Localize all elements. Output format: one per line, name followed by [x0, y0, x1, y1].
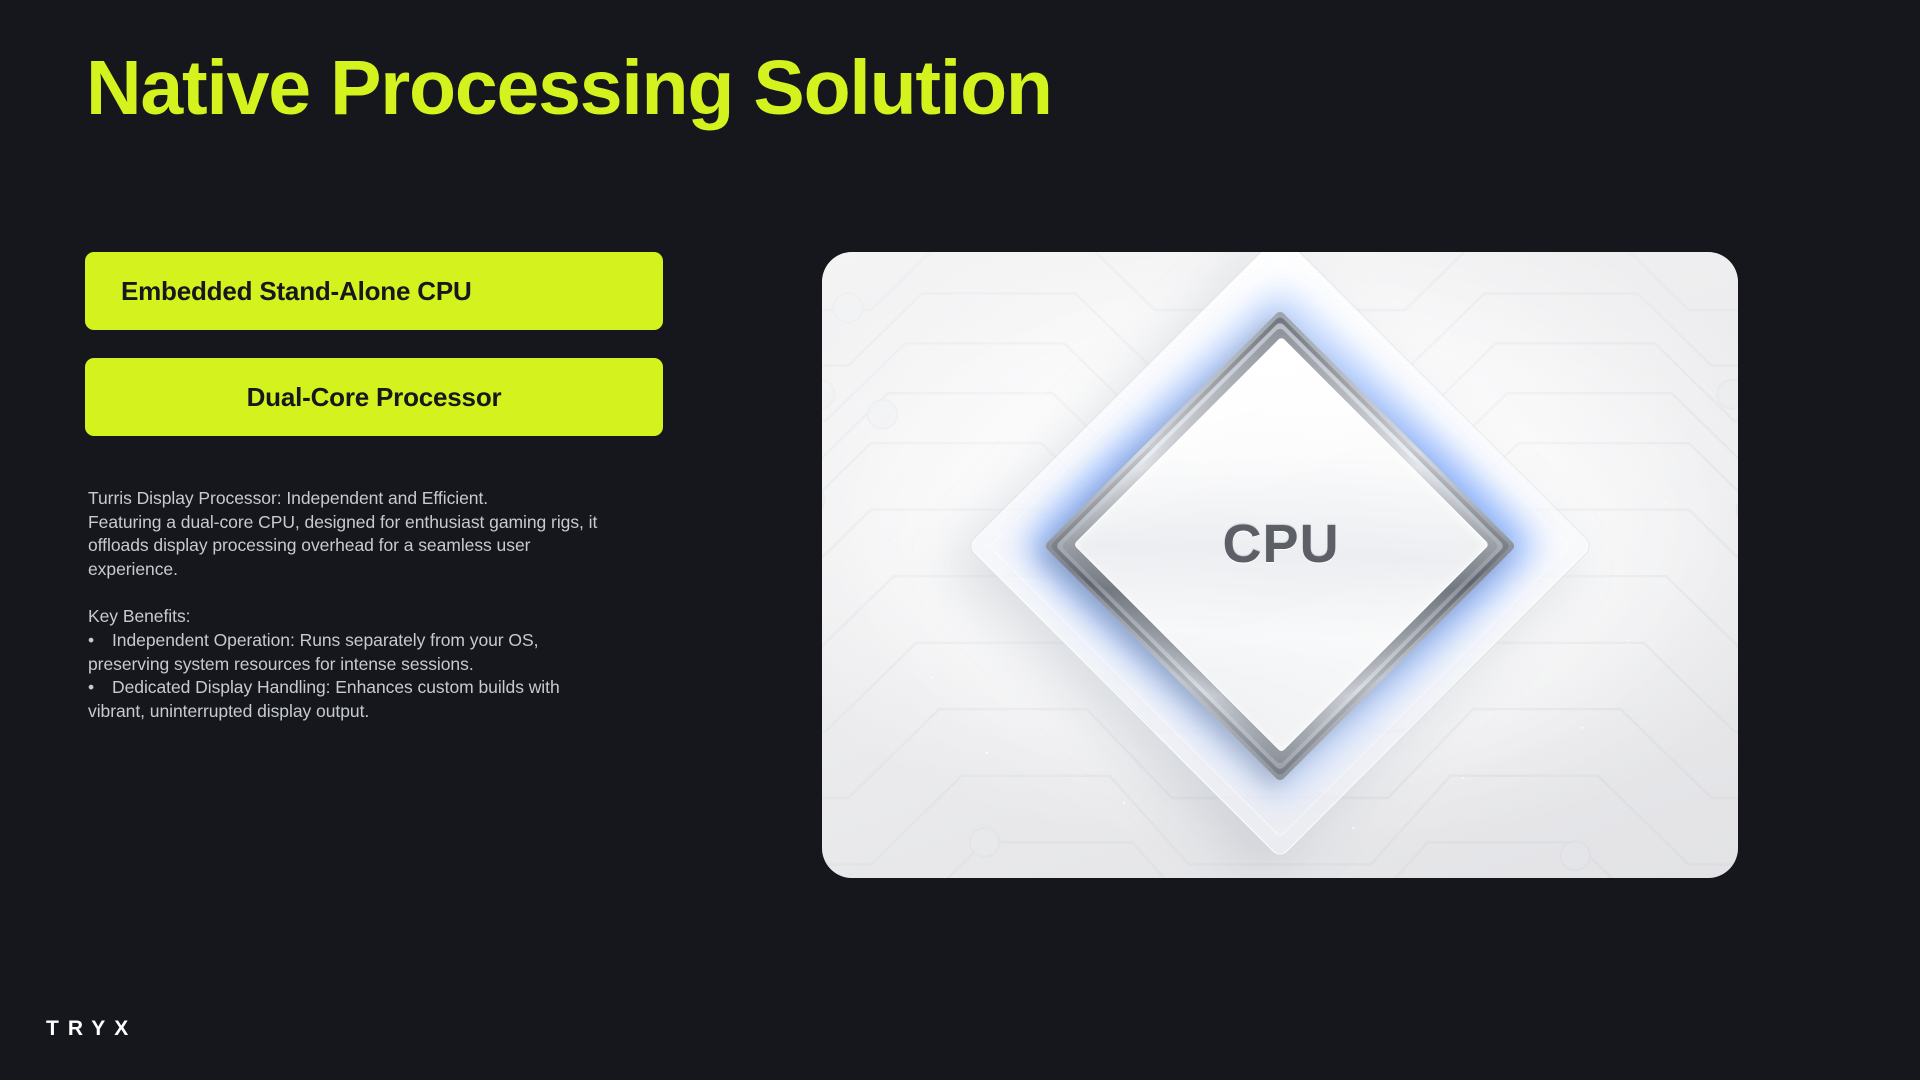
benefit-2-line-1: Dedicated Display Handling: Enhances cus… — [112, 677, 560, 697]
feature-button-embedded-stand-alone-cpu[interactable]: Embedded Stand-Alone CPU — [85, 252, 663, 330]
key-benefits-heading: Key Benefits: — [88, 606, 190, 626]
feature-button-label: Dual-Core Processor — [247, 382, 502, 413]
tryx-logo: TRYX — [46, 1017, 137, 1041]
bullet-icon: • — [88, 629, 112, 653]
benefit-2-continuation: vibrant, uninterrupted display output. — [88, 700, 688, 724]
intro-line-3: offloads display processing overhead for… — [88, 535, 530, 555]
page-title: Native Processing Solution — [86, 48, 1052, 130]
intro-paragraph: Turris Display Processor: Independent an… — [88, 487, 688, 581]
benefit-item-1: •Independent Operation: Runs separately … — [88, 629, 688, 653]
key-benefits-paragraph: Key Benefits: •Independent Operation: Ru… — [88, 605, 688, 723]
benefit-1-continuation: preserving system resources for intense … — [88, 653, 688, 677]
paragraph-spacer — [88, 581, 688, 605]
feature-button-label: Embedded Stand-Alone CPU — [121, 276, 472, 307]
product-image-panel: CPU — [822, 252, 1738, 878]
cpu-label: CPU — [1223, 514, 1340, 576]
feature-button-dual-core-processor[interactable]: Dual-Core Processor — [85, 358, 663, 436]
benefit-item-2: •Dedicated Display Handling: Enhances cu… — [88, 676, 688, 700]
intro-line-4: experience. — [88, 559, 178, 579]
body-copy: Turris Display Processor: Independent an… — [88, 487, 688, 723]
bullet-icon: • — [88, 676, 112, 700]
intro-line-2: Featuring a dual-core CPU, designed for … — [88, 512, 597, 532]
benefit-1-line-1: Independent Operation: Runs separately f… — [112, 630, 538, 650]
intro-line-1: Turris Display Processor: Independent an… — [88, 488, 488, 508]
left-content-column: Embedded Stand-Alone CPU Dual-Core Proce… — [85, 252, 663, 436]
